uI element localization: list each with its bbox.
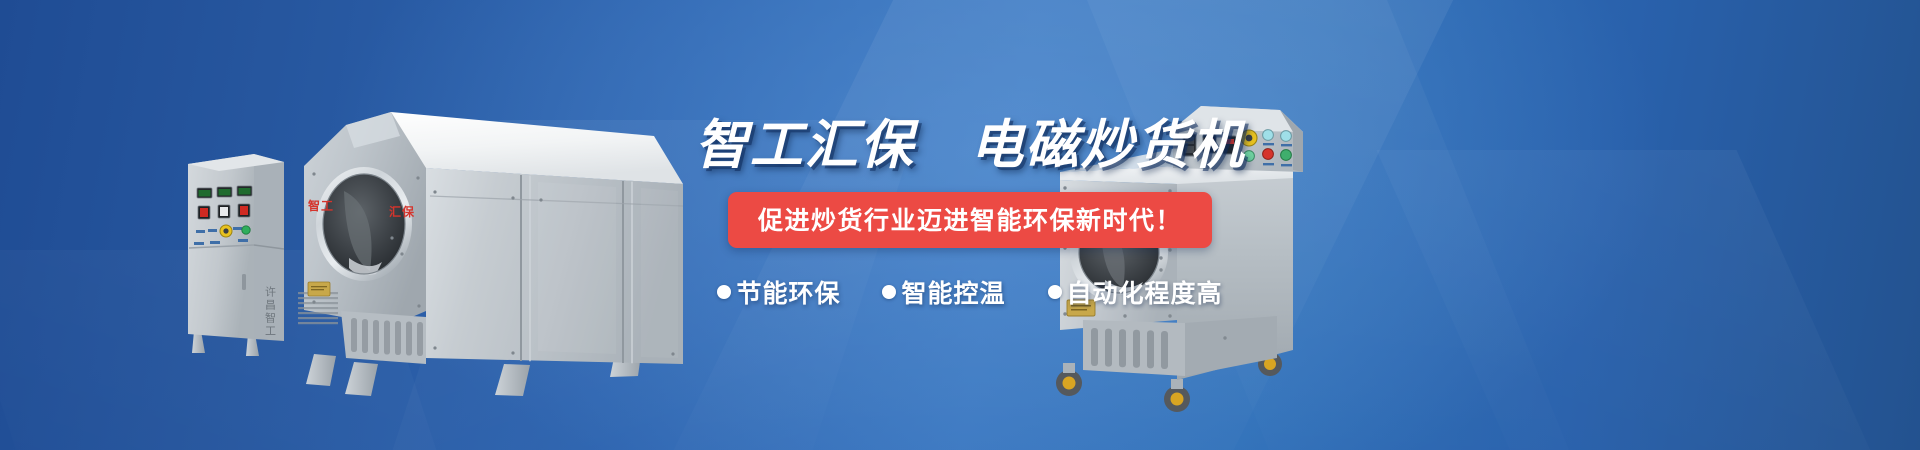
drum-opening xyxy=(316,167,412,281)
digital-display-group xyxy=(197,186,252,198)
run-indicator xyxy=(1281,150,1292,161)
feature-item: 智能控温 xyxy=(882,274,1005,310)
roaster-body: 智工 汇保 xyxy=(298,112,683,396)
bullet-dot-icon xyxy=(882,285,896,299)
headline-part-2: 电磁炒货机 xyxy=(970,116,1245,175)
feature-label: 自动化程度高 xyxy=(1067,274,1223,310)
feature-label: 节能环保 xyxy=(736,274,840,310)
page-title: 智工汇保 电磁炒货机 xyxy=(690,118,1250,173)
copy-block: 智工汇保 电磁炒货机 促进炒货行业迈进智能环保新时代！ 节能环保 智能控温 自动… xyxy=(690,118,1250,310)
rocker-switch-group xyxy=(198,204,250,219)
cabinet-brand-text: 许昌智工 xyxy=(264,286,277,338)
feature-list: 节能环保 智能控温 自动化程度高 xyxy=(690,274,1250,310)
control-cabinet: 许昌智工 xyxy=(188,154,284,356)
bullet-dot-icon xyxy=(1048,285,1062,299)
feature-item: 节能环保 xyxy=(717,274,840,310)
promo-banner: 许昌智工 xyxy=(0,0,1920,450)
subtitle-row: 促进炒货行业迈进智能环保新时代！ xyxy=(690,192,1250,248)
product-image-large-roaster: 许昌智工 xyxy=(186,96,696,396)
brand-text-left: 智工 xyxy=(307,198,334,213)
stop-button xyxy=(1263,149,1274,160)
background-facet xyxy=(1377,150,1920,450)
headline-part-1: 智工汇保 xyxy=(695,116,915,175)
tagline-badge: 促进炒货行业迈进智能环保新时代！ xyxy=(728,192,1212,248)
feature-item: 自动化程度高 xyxy=(1048,274,1223,310)
run-indicator xyxy=(242,226,250,234)
brand-text-right: 汇保 xyxy=(389,204,415,219)
start-button xyxy=(1263,130,1274,141)
bullet-dot-icon xyxy=(717,285,731,299)
feature-label: 智能控温 xyxy=(901,274,1005,310)
forward-button xyxy=(1281,131,1292,142)
